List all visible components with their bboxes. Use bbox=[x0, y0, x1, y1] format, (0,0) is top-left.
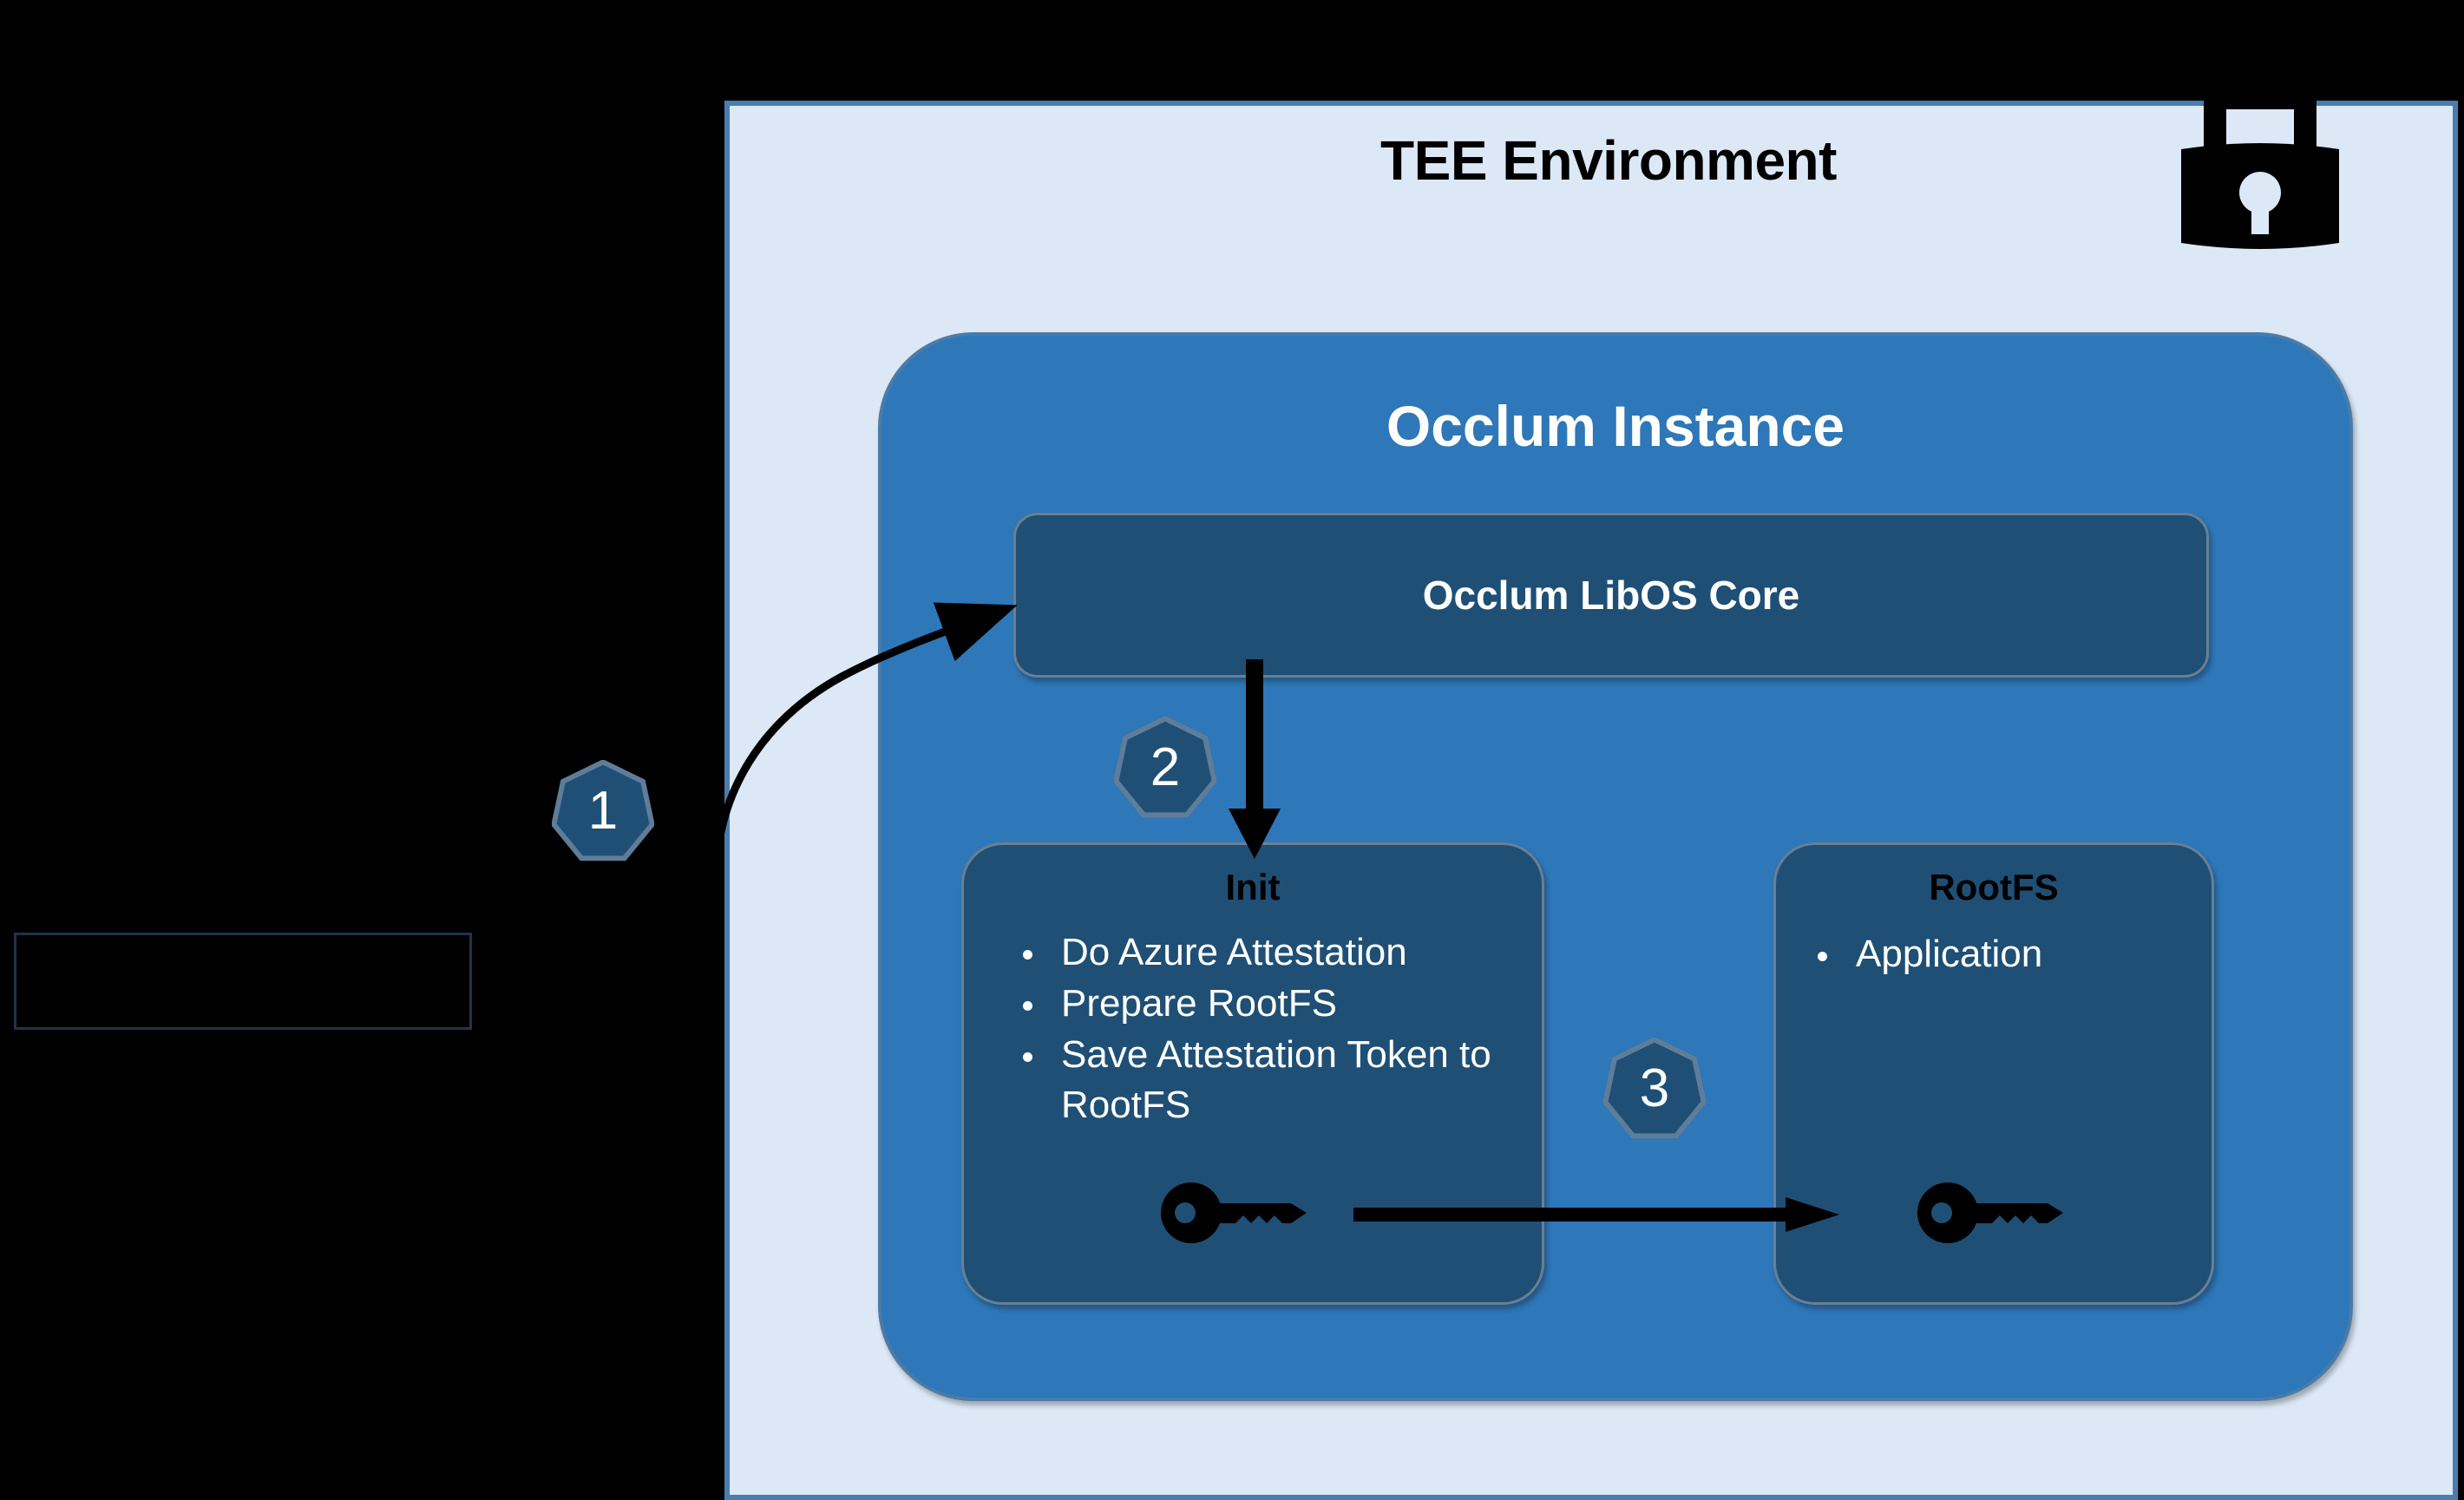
arrow-libos-to-init bbox=[1215, 659, 1336, 859]
diagram-canvas: TEE Environment Occlum Instance Occlum L… bbox=[0, 0, 2464, 1500]
rootfs-panel-title: RootFS bbox=[1776, 867, 2212, 908]
left-empty-textbox[interactable] bbox=[14, 933, 472, 1030]
occlum-libos-core-box: Occlum LibOS Core bbox=[1013, 513, 2209, 678]
key-icon bbox=[1161, 1182, 1314, 1243]
rootfs-panel-bullet-list: Application bbox=[1776, 929, 2212, 979]
occlum-libos-core-title: Occlum LibOS Core bbox=[1423, 572, 1800, 619]
step-badge-3-label: 3 bbox=[1640, 1062, 1669, 1116]
step-badge-3: 3 bbox=[1603, 1038, 1706, 1140]
arrow-to-libos-core bbox=[694, 555, 1093, 885]
step-badge-1-label: 1 bbox=[588, 784, 618, 838]
list-item: Do Azure Attestation bbox=[1012, 927, 1542, 977]
occlum-instance-title: Occlum Instance bbox=[881, 393, 2349, 459]
key-icon bbox=[1917, 1182, 2070, 1243]
step-badge-2: 2 bbox=[1114, 717, 1216, 819]
padlock-icon bbox=[2169, 95, 2351, 252]
step-badge-2-label: 2 bbox=[1150, 741, 1180, 795]
arrow-init-to-rootfs bbox=[1353, 1189, 1839, 1241]
init-panel-bullet-list: Do Azure Attestation Prepare RootFS Save… bbox=[964, 927, 1542, 1130]
list-item: Save Attestation Token to RootFS bbox=[1012, 1030, 1542, 1129]
list-item: Prepare RootFS bbox=[1012, 979, 1542, 1028]
step-badge-1: 1 bbox=[552, 760, 654, 862]
list-item: Application bbox=[1807, 929, 2212, 979]
